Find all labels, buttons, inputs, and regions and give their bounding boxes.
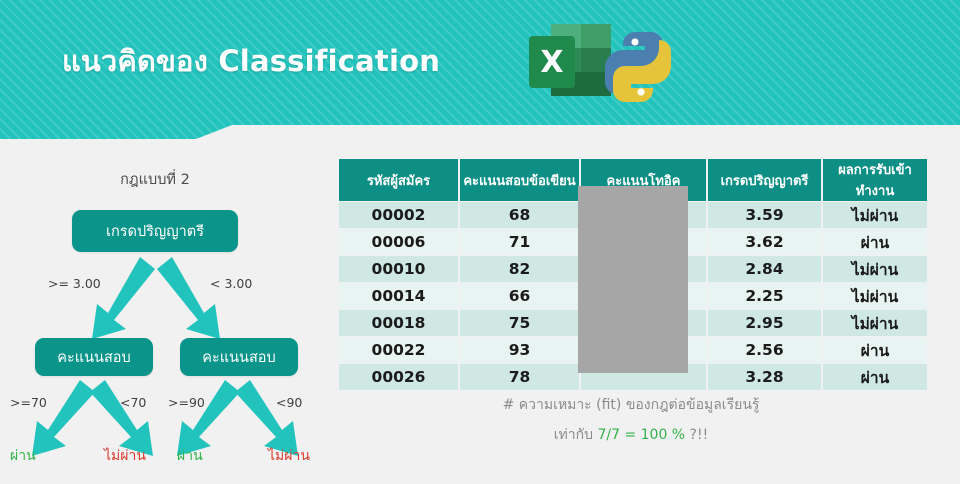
cell-written-score: 75 xyxy=(460,310,579,336)
footnote: # ความเหมาะ (fit) ของกฎต่อข้อมูลเรียนรู้… xyxy=(337,390,925,450)
cell-result: ไม่ผ่าน xyxy=(823,202,927,228)
cell-written-score: 68 xyxy=(460,202,579,228)
cell-result: ผ่าน xyxy=(823,229,927,255)
cell-gpa: 2.95 xyxy=(708,310,821,336)
cell-gpa: 2.56 xyxy=(708,337,821,363)
tree-node-left-label: คะแนนสอบ xyxy=(57,346,130,369)
arrow-root-right xyxy=(157,257,220,339)
excel-icon: X xyxy=(529,24,611,96)
cell-applicant-id: 00002 xyxy=(339,202,458,228)
tree-node-right-label: คะแนนสอบ xyxy=(202,346,275,369)
python-icon xyxy=(605,32,671,102)
page-title: แนวคิดของ Classification xyxy=(62,38,440,84)
tree-node-left[interactable]: คะแนนสอบ xyxy=(35,338,153,376)
cell-gpa: 2.25 xyxy=(708,283,821,309)
cell-result: ผ่าน xyxy=(823,337,927,363)
arrow-root-left xyxy=(92,257,155,339)
footnote-prefix: เท่ากับ xyxy=(554,427,598,443)
cell-written-score: 71 xyxy=(460,229,579,255)
edge-label-gpa-ge: >= 3.00 xyxy=(48,276,101,291)
cell-result: ไม่ผ่าน xyxy=(823,283,927,309)
cell-gpa: 2.84 xyxy=(708,256,821,282)
edge-label-score-lt90: <90 xyxy=(276,395,302,410)
cell-result: ไม่ผ่าน xyxy=(823,256,927,282)
cell-applicant-id: 00010 xyxy=(339,256,458,282)
cell-applicant-id: 00026 xyxy=(339,364,458,390)
logo-group: X xyxy=(523,18,683,116)
edge-label-score-lt70: <70 xyxy=(120,395,146,410)
tree-caption: กฎแบบที่ 2 xyxy=(0,168,310,191)
tree-leaf-fail-left: ไม่ผ่าน xyxy=(104,445,146,467)
cell-gpa: 3.28 xyxy=(708,364,821,390)
tree-node-root-label: เกรดปริญญาตรี xyxy=(106,220,204,243)
tree-leaf-pass-left: ผ่าน xyxy=(10,445,36,467)
footnote-line-2: เท่ากับ 7/7 = 100 % ?!! xyxy=(337,420,925,450)
toeic-column-mask xyxy=(578,186,688,373)
column-header-written-score[interactable]: คะแนนสอบข้อเขียน xyxy=(460,159,579,201)
cell-result: ผ่าน xyxy=(823,364,927,390)
footnote-suffix: ?!! xyxy=(685,427,708,443)
cell-applicant-id: 00014 xyxy=(339,283,458,309)
cell-gpa: 3.59 xyxy=(708,202,821,228)
svg-text:X: X xyxy=(540,45,563,80)
decision-tree-diagram: กฎแบบที่ 2 เกรดปริญญาตรี คะแนนสอบ คะแนนส… xyxy=(0,150,335,484)
edge-label-score-ge70: >=70 xyxy=(10,395,47,410)
tree-node-right[interactable]: คะแนนสอบ xyxy=(180,338,298,376)
edge-label-score-ge90: >=90 xyxy=(168,395,205,410)
cell-gpa: 3.62 xyxy=(708,229,821,255)
tree-arrows xyxy=(0,150,335,484)
cell-written-score: 82 xyxy=(460,256,579,282)
edge-label-gpa-lt: < 3.00 xyxy=(210,276,252,291)
slide-root: แนวคิดของ Classification X กฎแบ xyxy=(0,0,960,484)
cell-applicant-id: 00006 xyxy=(339,229,458,255)
cell-applicant-id: 00018 xyxy=(339,310,458,336)
cell-written-score: 66 xyxy=(460,283,579,309)
tree-leaf-fail-right: ไม่ผ่าน xyxy=(268,445,310,467)
tree-leaf-pass-right: ผ่าน xyxy=(177,445,203,467)
column-header-result[interactable]: ผลการรับเข้าทำงาน xyxy=(823,159,927,201)
footnote-line-1: # ความเหมาะ (fit) ของกฎต่อข้อมูลเรียนรู้ xyxy=(337,390,925,420)
footnote-highlight: 7/7 = 100 % xyxy=(597,427,685,443)
column-header-gpa[interactable]: เกรดปริญญาตรี xyxy=(708,159,821,201)
tree-node-root[interactable]: เกรดปริญญาตรี xyxy=(72,210,238,252)
cell-result: ไม่ผ่าน xyxy=(823,310,927,336)
column-header-applicant-id[interactable]: รหัสผู้สมัคร xyxy=(339,159,458,201)
cell-written-score: 93 xyxy=(460,337,579,363)
cell-applicant-id: 00022 xyxy=(339,337,458,363)
cell-written-score: 78 xyxy=(460,364,579,390)
arrow-left-pass xyxy=(32,380,95,456)
